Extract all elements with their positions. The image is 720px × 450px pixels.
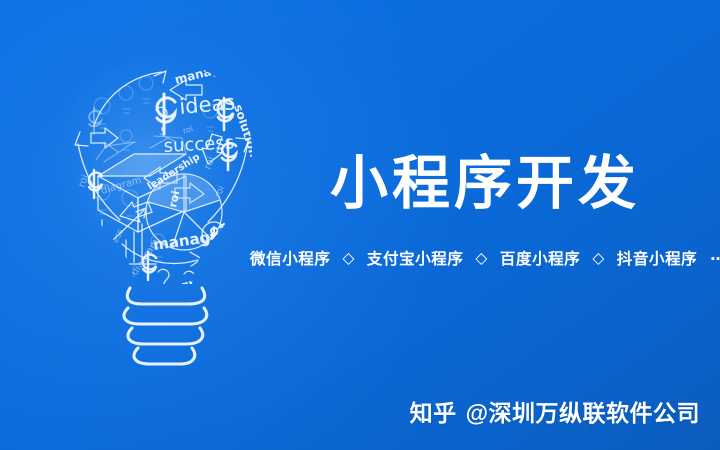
watermark-account: @深圳万纵联软件公司 [466,394,700,428]
bulb-coil-base [124,288,207,364]
diamond-separator-icon: ◇ [475,250,488,269]
doodle-word-ideas: ideas [178,90,236,119]
subtitle-item-baidu: 百度小程序 [500,251,581,268]
doodle-word-motivation: motivation [155,311,210,329]
lightbulb-illustration: management ideas success solution leader… [58,48,268,368]
lightbulb-doodle-svg: management ideas success solution leader… [58,48,268,368]
subtitle-item-douyin: 抖音小程序 [617,251,698,268]
watermark: 知乎 @深圳万纵联软件公司 [410,394,700,428]
doodle-word-success: success [163,132,234,157]
diamond-separator-icon: ◇ [342,250,355,269]
subtitle-ellipsis: ⋯ [710,251,720,270]
subtitle-item-alipay: 支付宝小程序 [367,251,464,268]
subtitle-list: 微信小程序 ◇ 支付宝小程序 ◇ 百度小程序 ◇ 抖音小程序 ⋯ [250,251,720,270]
content-block: 小程序开发 微信小程序 ◇ 支付宝小程序 ◇ 百度小程序 ◇ 抖音小程序 ⋯ [250,0,720,450]
poster-canvas: management ideas success solution leader… [0,0,720,450]
page-title: 小程序开发 [250,155,720,213]
subtitle-item-wechat: 微信小程序 [250,251,331,268]
diamond-separator-icon: ◇ [592,250,605,269]
zhihu-brand-label: 知乎 [410,394,457,428]
